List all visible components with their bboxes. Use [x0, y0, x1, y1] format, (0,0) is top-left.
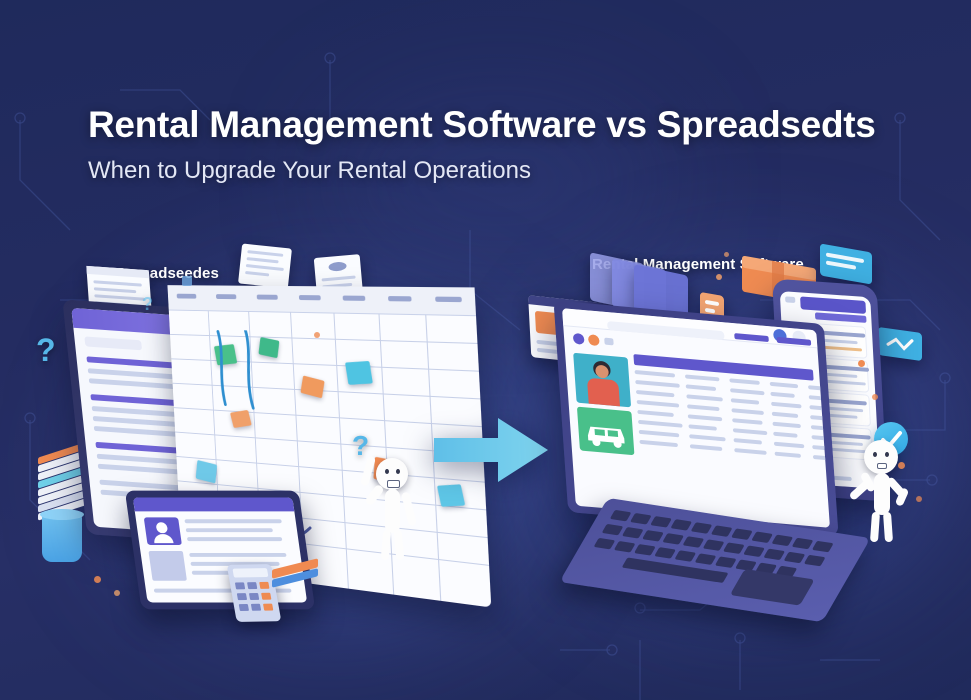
- dot-icon: [724, 252, 729, 257]
- table-row: [635, 370, 820, 466]
- window-dot-icon: [588, 334, 600, 346]
- laptop-trackpad: [730, 569, 815, 606]
- frustrated-person-icon: [360, 442, 430, 566]
- spreadsheets-illustration: ? ? ?: [14, 246, 464, 646]
- window-dot-icon: [573, 333, 585, 345]
- question-mark-icon: ?: [142, 294, 153, 315]
- tablet-titlebar: [133, 498, 295, 512]
- person-avatar-icon: [573, 353, 631, 408]
- dot-icon: [898, 462, 905, 469]
- sticky-note-icon: [300, 375, 324, 398]
- dot-icon: [114, 590, 120, 596]
- car-icon: [577, 407, 635, 456]
- question-mark-icon: ?: [36, 332, 56, 369]
- sticky-note-icon: [437, 484, 465, 507]
- dot-icon: [182, 276, 192, 286]
- sticky-note-icon: [345, 361, 373, 385]
- floating-document-icon: [238, 243, 292, 288]
- dot-icon: [858, 360, 865, 367]
- scribble-icon: [211, 329, 281, 419]
- dot-icon: [916, 496, 922, 502]
- software-illustration: [520, 236, 960, 636]
- trash-bin-icon: [42, 514, 82, 562]
- dashboard-screen: [562, 308, 830, 528]
- dot-icon: [716, 274, 722, 280]
- person-avatar-icon: [144, 517, 182, 545]
- happy-person-icon: [850, 430, 916, 548]
- floating-card-icon: [820, 243, 872, 284]
- floating-card-icon: [878, 327, 922, 361]
- laptop-icon: [553, 300, 838, 535]
- page-subtitle: When to Upgrade Your Rental Operations: [88, 158, 958, 184]
- dot-icon: [94, 576, 101, 583]
- header-block: Rental Management Software vs Spreadsedt…: [88, 106, 958, 184]
- infographic-canvas: Rental Management Software vs Spreadsedt…: [0, 0, 971, 700]
- dot-icon: [872, 394, 878, 400]
- dot-icon: [314, 332, 320, 338]
- page-title: Rental Management Software vs Spreadsedt…: [88, 106, 958, 145]
